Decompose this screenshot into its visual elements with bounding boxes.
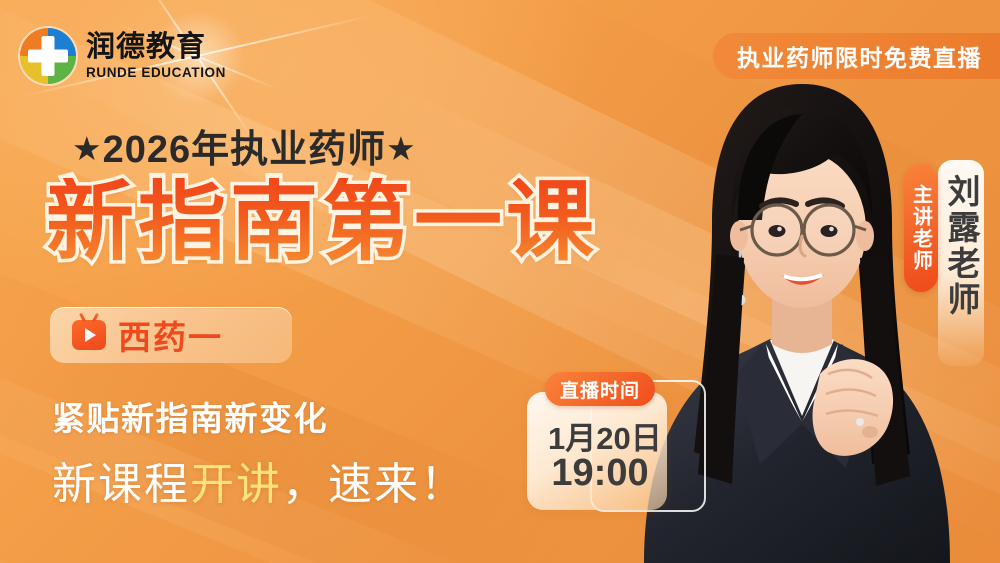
teacher-role-pill: 主讲老师 [904, 164, 938, 292]
live-time-hour: 19:00 [548, 452, 652, 495]
copy-line-2-highlight: 开讲 [190, 460, 282, 509]
page-title: 新指南第一课 [46, 178, 598, 266]
star-right-icon: ★ [386, 130, 417, 167]
teacher-role-label: 主讲老师 [907, 184, 936, 272]
brand-name-cn: 润德教育 [86, 33, 226, 62]
play-triangle-icon [85, 328, 96, 342]
cross-icon [28, 36, 68, 76]
live-time-pill-label: 直播时间 [560, 376, 640, 403]
subject-tag[interactable]: 西药一 [50, 307, 292, 363]
subject-tag-label: 西药一 [118, 311, 223, 359]
copy-line-2-part2: ，速来！ [282, 460, 466, 509]
copy-line-2: 新课程开讲，速来！ [52, 448, 466, 512]
cross-circle-logo-icon [20, 28, 76, 84]
brand-name-en: RUNDE EDUCATION [86, 66, 226, 80]
teacher-name-panel: 刘露老师 [938, 160, 984, 366]
teacher-name-label: 刘露老师 [937, 174, 985, 318]
headline-kicker-text: 2026年执业药师 [103, 129, 387, 171]
promo-banner: 润德教育 RUNDE EDUCATION 执业药师限时免费直播 ★2026年执业… [0, 0, 1000, 563]
tv-play-icon [72, 320, 106, 350]
copy-line-2-part1: 新课程 [52, 460, 190, 509]
star-left-icon: ★ [72, 130, 103, 167]
brand-logo: 润德教育 RUNDE EDUCATION [20, 28, 226, 84]
live-time-pill: 直播时间 [545, 372, 655, 406]
headline-kicker: ★2026年执业药师★ [72, 118, 417, 173]
copy-line-1: 紧贴新指南新变化 [52, 392, 328, 440]
brand-logo-text: 润德教育 RUNDE EDUCATION [86, 33, 226, 80]
